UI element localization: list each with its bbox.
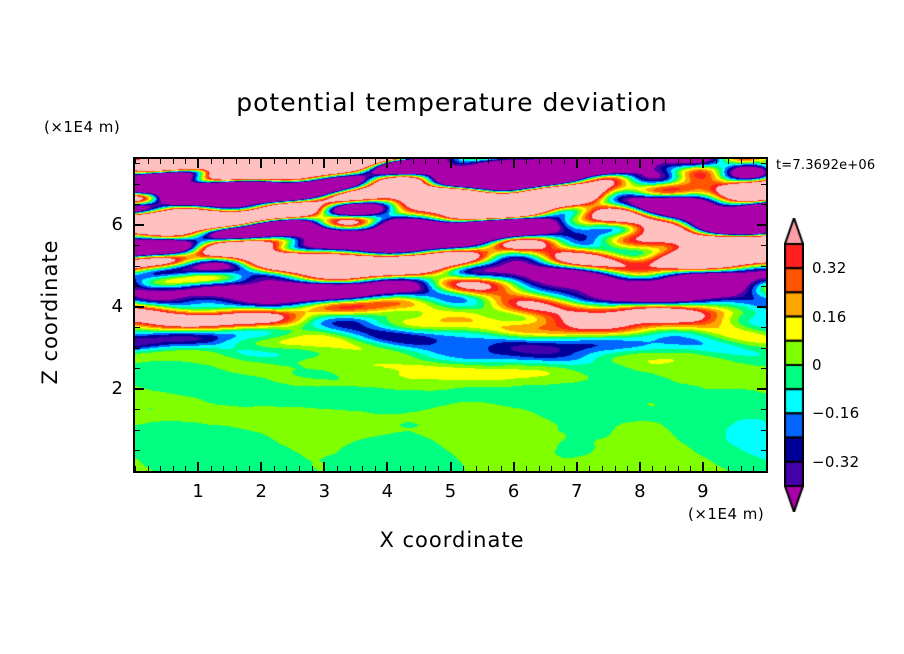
x-tick-label: 5 — [436, 481, 466, 502]
y-tick-minor — [761, 204, 766, 205]
x-tick-minor — [551, 159, 552, 164]
x-tick-minor — [728, 159, 729, 164]
x-tick-minor — [337, 466, 338, 471]
y-tick-label: 6 — [93, 214, 123, 235]
x-tick-major — [260, 159, 262, 168]
colorbar-tick-label: 0.32 — [812, 259, 847, 277]
x-tick-minor — [652, 159, 653, 164]
x-tick-minor — [476, 159, 477, 164]
x-tick-minor — [350, 466, 351, 471]
x-tick-minor — [375, 159, 376, 164]
x-tick-minor — [564, 159, 565, 164]
x-tick-minor — [766, 466, 767, 471]
x-tick-minor — [602, 466, 603, 471]
x-tick-minor — [274, 159, 275, 164]
x-tick-minor — [766, 159, 767, 164]
y-tick-minor — [761, 327, 766, 328]
x-tick-minor — [223, 466, 224, 471]
x-tick-label: 1 — [183, 481, 213, 502]
x-tick-minor — [476, 466, 477, 471]
y-tick-minor — [761, 430, 766, 431]
y-tick-minor — [761, 348, 766, 349]
x-tick-minor — [438, 159, 439, 164]
y-tick-minor — [135, 450, 140, 451]
x-tick-major — [639, 462, 641, 471]
x-tick-label: 7 — [562, 481, 592, 502]
x-tick-minor — [488, 159, 489, 164]
y-tick-label: 2 — [93, 378, 123, 399]
x-tick-minor — [741, 159, 742, 164]
x-tick-minor — [148, 159, 149, 164]
y-tick-minor — [761, 266, 766, 267]
y-tick-minor — [135, 368, 140, 369]
x-tick-minor — [337, 159, 338, 164]
contour-field — [135, 159, 766, 471]
x-tick-minor — [211, 159, 212, 164]
x-tick-minor — [286, 159, 287, 164]
x-tick-minor — [236, 466, 237, 471]
x-tick-minor — [615, 466, 616, 471]
x-tick-minor — [526, 159, 527, 164]
x-tick-minor — [716, 159, 717, 164]
x-tick-minor — [211, 466, 212, 471]
y-tick-major — [757, 388, 766, 390]
x-tick-label: 4 — [372, 481, 402, 502]
x-tick-minor — [615, 159, 616, 164]
y-tick-minor — [761, 368, 766, 369]
y-tick-major — [135, 306, 144, 308]
x-tick-minor — [665, 466, 666, 471]
y-tick-minor — [761, 245, 766, 246]
x-tick-label: 9 — [688, 481, 718, 502]
colorbar — [784, 218, 804, 512]
y-tick-minor — [135, 286, 140, 287]
y-tick-minor — [761, 286, 766, 287]
x-tick-minor — [526, 466, 527, 471]
page-title: potential temperature deviation — [0, 88, 904, 117]
x-tick-minor — [173, 466, 174, 471]
x-tick-minor — [286, 466, 287, 471]
x-tick-minor — [362, 159, 363, 164]
x-tick-minor — [690, 466, 691, 471]
x-tick-major — [639, 159, 641, 168]
x-tick-major — [450, 462, 452, 471]
y-tick-minor — [135, 471, 140, 472]
y-tick-minor — [135, 327, 140, 328]
y-tick-major — [757, 306, 766, 308]
y-tick-minor — [135, 163, 140, 164]
x-tick-major — [197, 159, 199, 168]
x-tick-minor — [753, 466, 754, 471]
x-tick-minor — [249, 466, 250, 471]
y-tick-minor — [135, 409, 140, 410]
x-tick-minor — [678, 466, 679, 471]
x-tick-minor — [627, 159, 628, 164]
x-tick-minor — [627, 466, 628, 471]
x-tick-major — [576, 462, 578, 471]
x-tick-minor — [312, 466, 313, 471]
x-axis-unit-label: (×1E4 m) — [688, 505, 764, 523]
contour-plot-area — [133, 157, 768, 473]
x-tick-minor — [741, 466, 742, 471]
x-axis-title: X coordinate — [0, 528, 904, 552]
x-tick-minor — [539, 159, 540, 164]
x-tick-minor — [551, 466, 552, 471]
y-tick-minor — [135, 204, 140, 205]
colorbar-tick-label: 0 — [812, 356, 822, 374]
x-tick-minor — [223, 159, 224, 164]
y-tick-label: 4 — [93, 296, 123, 317]
x-tick-minor — [665, 159, 666, 164]
x-tick-major — [260, 462, 262, 471]
y-tick-minor — [761, 471, 766, 472]
colorbar-gradient — [784, 218, 804, 512]
x-tick-minor — [400, 466, 401, 471]
x-tick-minor — [589, 159, 590, 164]
x-tick-minor — [299, 159, 300, 164]
x-tick-minor — [539, 466, 540, 471]
colorbar-tick-label: −0.32 — [812, 453, 859, 471]
x-tick-major — [702, 462, 704, 471]
colorbar-tick-label: 0.16 — [812, 308, 847, 326]
x-tick-minor — [438, 466, 439, 471]
y-tick-major — [757, 224, 766, 226]
x-tick-minor — [160, 466, 161, 471]
x-tick-minor — [299, 466, 300, 471]
x-tick-minor — [185, 159, 186, 164]
x-tick-minor — [160, 159, 161, 164]
x-tick-minor — [602, 159, 603, 164]
x-tick-major — [386, 462, 388, 471]
y-tick-minor — [135, 184, 140, 185]
x-tick-minor — [236, 159, 237, 164]
y-tick-minor — [135, 430, 140, 431]
x-tick-minor — [350, 159, 351, 164]
x-tick-minor — [463, 159, 464, 164]
y-tick-minor — [761, 163, 766, 164]
x-tick-minor — [728, 466, 729, 471]
y-tick-major — [135, 388, 144, 390]
x-tick-minor — [249, 159, 250, 164]
x-tick-major — [197, 462, 199, 471]
x-tick-minor — [501, 466, 502, 471]
x-tick-minor — [488, 466, 489, 471]
x-tick-minor — [678, 159, 679, 164]
x-tick-minor — [362, 466, 363, 471]
x-tick-label: 2 — [246, 481, 276, 502]
x-tick-minor — [185, 466, 186, 471]
y-tick-minor — [761, 409, 766, 410]
colorbar-tick-label: −0.16 — [812, 404, 859, 422]
x-tick-minor — [400, 159, 401, 164]
x-tick-minor — [564, 466, 565, 471]
x-tick-minor — [375, 466, 376, 471]
x-tick-minor — [425, 466, 426, 471]
x-tick-minor — [413, 159, 414, 164]
x-tick-major — [513, 462, 515, 471]
x-tick-minor — [690, 159, 691, 164]
x-tick-label: 3 — [309, 481, 339, 502]
y-tick-minor — [761, 184, 766, 185]
x-tick-label: 6 — [499, 481, 529, 502]
x-tick-major — [576, 159, 578, 168]
z-axis-unit-label: (×1E4 m) — [44, 118, 120, 136]
x-tick-minor — [652, 466, 653, 471]
x-tick-major — [386, 159, 388, 168]
x-tick-minor — [274, 466, 275, 471]
y-tick-major — [135, 224, 144, 226]
y-axis-title: Z coordinate — [38, 202, 62, 422]
x-tick-minor — [148, 466, 149, 471]
y-tick-minor — [761, 450, 766, 451]
x-tick-minor — [413, 466, 414, 471]
x-tick-minor — [716, 466, 717, 471]
x-tick-major — [702, 159, 704, 168]
y-tick-minor — [135, 348, 140, 349]
x-tick-minor — [173, 159, 174, 164]
x-tick-minor — [501, 159, 502, 164]
timestamp-annotation: t=7.3692e+06 — [776, 158, 875, 173]
x-tick-minor — [753, 159, 754, 164]
x-tick-label: 8 — [625, 481, 655, 502]
x-tick-major — [323, 159, 325, 168]
x-tick-minor — [312, 159, 313, 164]
y-tick-minor — [135, 245, 140, 246]
x-tick-minor — [589, 466, 590, 471]
x-tick-minor — [463, 466, 464, 471]
x-tick-minor — [425, 159, 426, 164]
y-tick-minor — [135, 266, 140, 267]
x-tick-major — [323, 462, 325, 471]
x-tick-major — [513, 159, 515, 168]
x-tick-major — [450, 159, 452, 168]
